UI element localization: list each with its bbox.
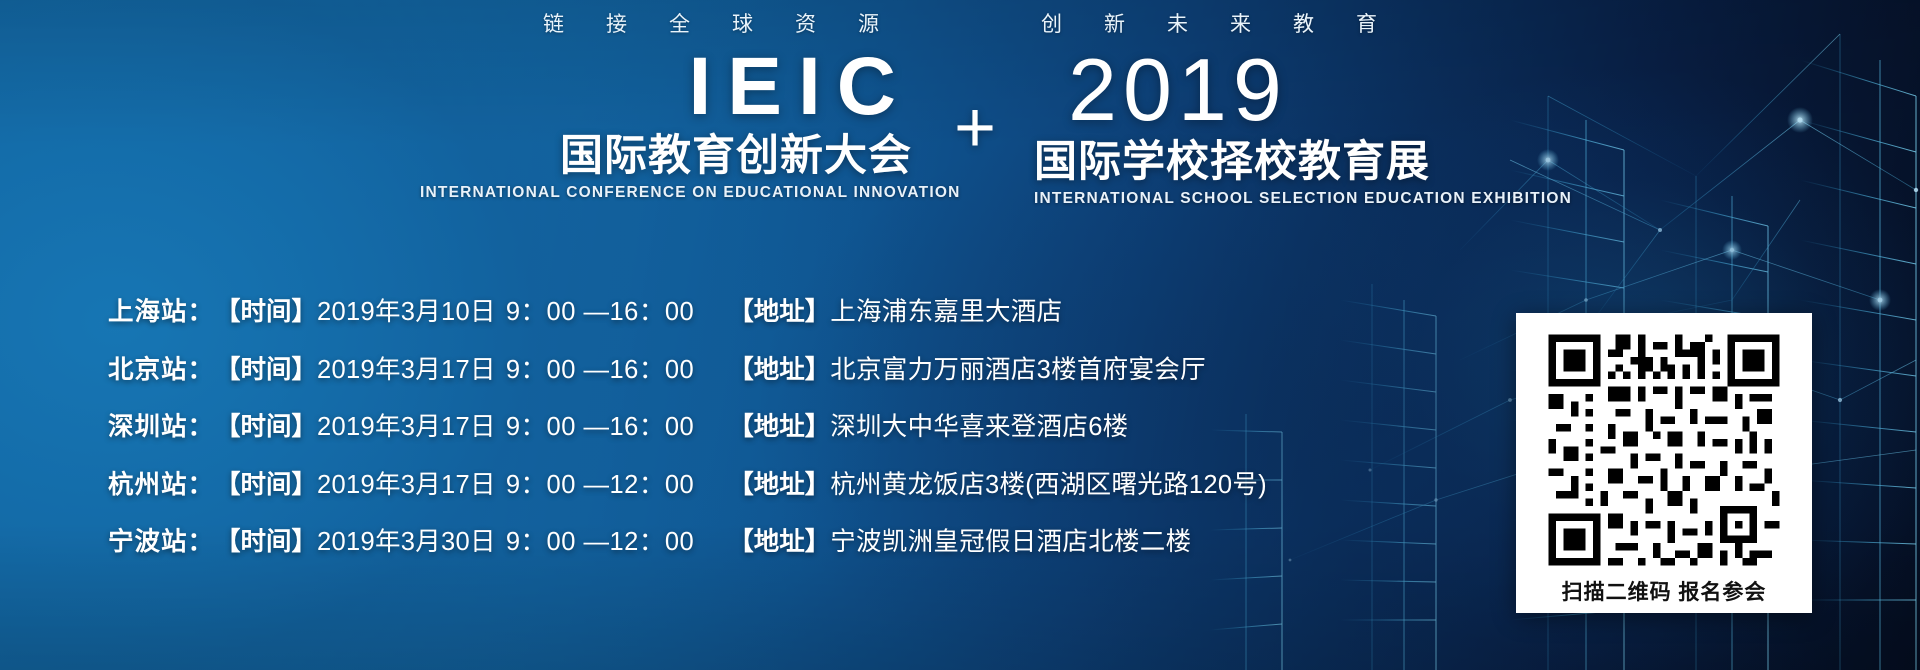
event-city-name: 宁波站 [108,530,188,556]
time-label: 【时间】 [215,358,317,384]
event-address: 杭州黄龙饭店3楼(西湖区曙光路120号) [830,473,1267,499]
event-logo-lockup: IEIC 国际教育创新大会 INTERNATIONAL CONFERENCE O… [420,48,1600,238]
address-label: 【地址】 [694,415,830,441]
event-date: 2019年3月30日 [317,530,496,556]
event-address: 宁波凯洲皇冠假日酒店北楼二楼 [830,530,1191,556]
table-row: 宁波站 ： 【时间】 2019年3月30日 9：00 —12：00 【地址】 宁… [108,530,1468,556]
event-time: 9：00 —12：00 [496,473,694,499]
conference-chinese-title: 国际教育创新大会 [420,132,912,180]
plus-separator-icon: + [920,48,1030,164]
qr-caption: 扫描二维码 报名参会 [1530,573,1798,603]
event-date: 2019年3月17日 [317,473,496,499]
qr-registration-panel[interactable]: 扫描二维码 报名参会 [1516,313,1812,613]
row-colon: ： [188,415,216,441]
ieic-promo-banner: 链接全球资源创新未来教育 IEIC 国际教育创新大会 INTERNATIONAL… [0,0,1920,670]
time-label: 【时间】 [215,473,317,499]
time-label: 【时间】 [215,300,317,326]
event-date: 2019年3月10日 [317,300,496,326]
event-city-name: 深圳站 [108,415,188,441]
exhibition-chinese-title: 国际学校择校教育展 [1034,138,1600,186]
event-city-name: 上海站 [108,300,188,326]
exhibition-english-title: INTERNATIONAL SCHOOL SELECTION EDUCATION… [1034,190,1600,208]
tagline-part-two: 创新未来教育 [999,8,1419,38]
event-time: 9：00 —16：00 [496,415,694,441]
time-label: 【时间】 [215,415,317,441]
address-label: 【地址】 [694,300,830,326]
tagline-part-one: 链接全球资源 [501,8,921,38]
event-address: 上海浦东嘉里大酒店 [830,300,1062,326]
address-label: 【地址】 [694,530,830,556]
ieic-conference-block: IEIC 国际教育创新大会 INTERNATIONAL CONFERENCE O… [420,48,920,202]
event-time: 9：00 —16：00 [496,300,694,326]
table-row: 上海站 ： 【时间】 2019年3月10日 9：00 —16：00 【地址】 上… [108,300,1468,326]
row-colon: ： [188,473,216,499]
ieic-acronym: IEIC [420,48,912,126]
event-time: 9：00 —12：00 [496,530,694,556]
event-address: 深圳大中华喜来登酒店6楼 [830,415,1128,441]
event-year: 2019 [1068,48,1600,132]
event-city-name: 杭州站 [108,473,188,499]
table-row: 杭州站 ： 【时间】 2019年3月17日 9：00 —12：00 【地址】 杭… [108,473,1468,499]
table-row: 北京站 ： 【时间】 2019年3月17日 9：00 —16：00 【地址】 北… [108,358,1468,384]
event-schedule-list: 上海站 ： 【时间】 2019年3月10日 9：00 —16：00 【地址】 上… [108,300,1468,588]
event-time: 9：00 —16：00 [496,358,694,384]
event-date: 2019年3月17日 [317,415,496,441]
row-colon: ： [188,300,216,326]
table-row: 深圳站 ： 【时间】 2019年3月17日 9：00 —16：00 【地址】 深… [108,415,1468,441]
event-address: 北京富力万丽酒店3楼首府宴会厅 [830,358,1206,384]
exhibition-block: 2019 国际学校择校教育展 INTERNATIONAL SCHOOL SELE… [1030,48,1600,208]
qr-code-icon[interactable] [1530,327,1798,573]
event-city-name: 北京站 [108,358,188,384]
event-date: 2019年3月17日 [317,358,496,384]
row-colon: ： [188,530,216,556]
banner-tagline: 链接全球资源创新未来教育 [0,8,1920,38]
conference-english-title: INTERNATIONAL CONFERENCE ON EDUCATIONAL … [420,184,912,202]
row-colon: ： [188,358,216,384]
address-label: 【地址】 [694,358,830,384]
time-label: 【时间】 [215,530,317,556]
address-label: 【地址】 [694,473,830,499]
